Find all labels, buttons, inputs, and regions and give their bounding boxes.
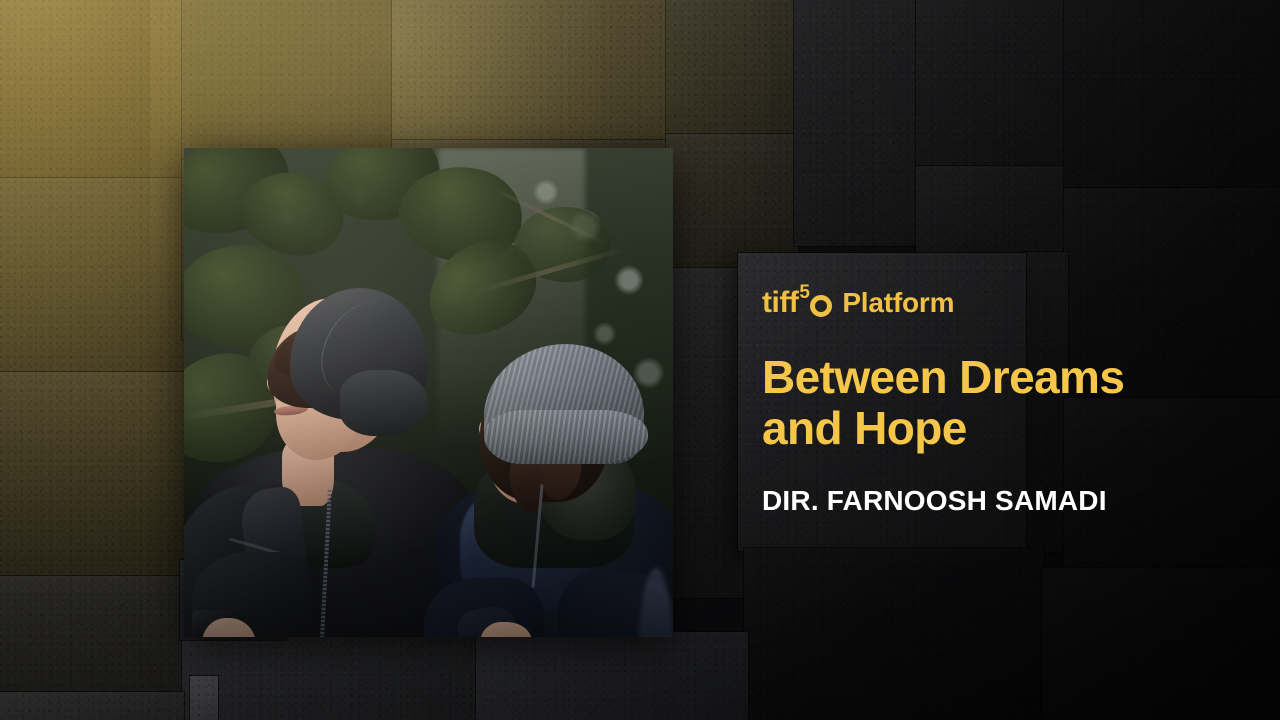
right-subject-beanie-cuff: [484, 410, 648, 464]
wall-block: [0, 372, 184, 578]
wall-block: [0, 0, 184, 180]
wall-block: [744, 548, 1044, 720]
wall-block: [476, 632, 748, 720]
tiff-wordmark: tiff: [762, 288, 798, 318]
film-still-image: [184, 148, 673, 637]
wall-block: [666, 134, 798, 270]
wall-block: [666, 268, 744, 598]
wall-block: [916, 0, 1066, 168]
film-title: Between Dreams and Hope: [762, 352, 1182, 453]
wall-block: [182, 0, 394, 162]
wall-block: [0, 178, 184, 374]
anniversary-five-glyph: 5: [799, 283, 809, 302]
tiff-film-promo-card: tiff 5 Platform Between Dreams and Hope …: [0, 0, 1280, 720]
wall-block: [666, 0, 798, 136]
director-credit: DIR. FARNOOSH SAMADI: [762, 486, 1202, 517]
wall-block: [794, 0, 918, 246]
anniversary-zero-glyph: [810, 295, 832, 317]
tiff-platform-lockup: tiff 5 Platform: [762, 286, 954, 318]
tiff-50-logo: tiff 5: [762, 286, 833, 318]
wall-block: [182, 636, 478, 720]
tiff-anniversary-50-mark: 5: [799, 286, 833, 318]
wall-block: [1042, 568, 1280, 720]
wall-block: [392, 0, 670, 142]
programme-name: Platform: [842, 289, 954, 317]
wall-block: [1064, 0, 1280, 190]
wall-mortar-pillar: [190, 676, 218, 720]
wall-block: [0, 692, 184, 720]
